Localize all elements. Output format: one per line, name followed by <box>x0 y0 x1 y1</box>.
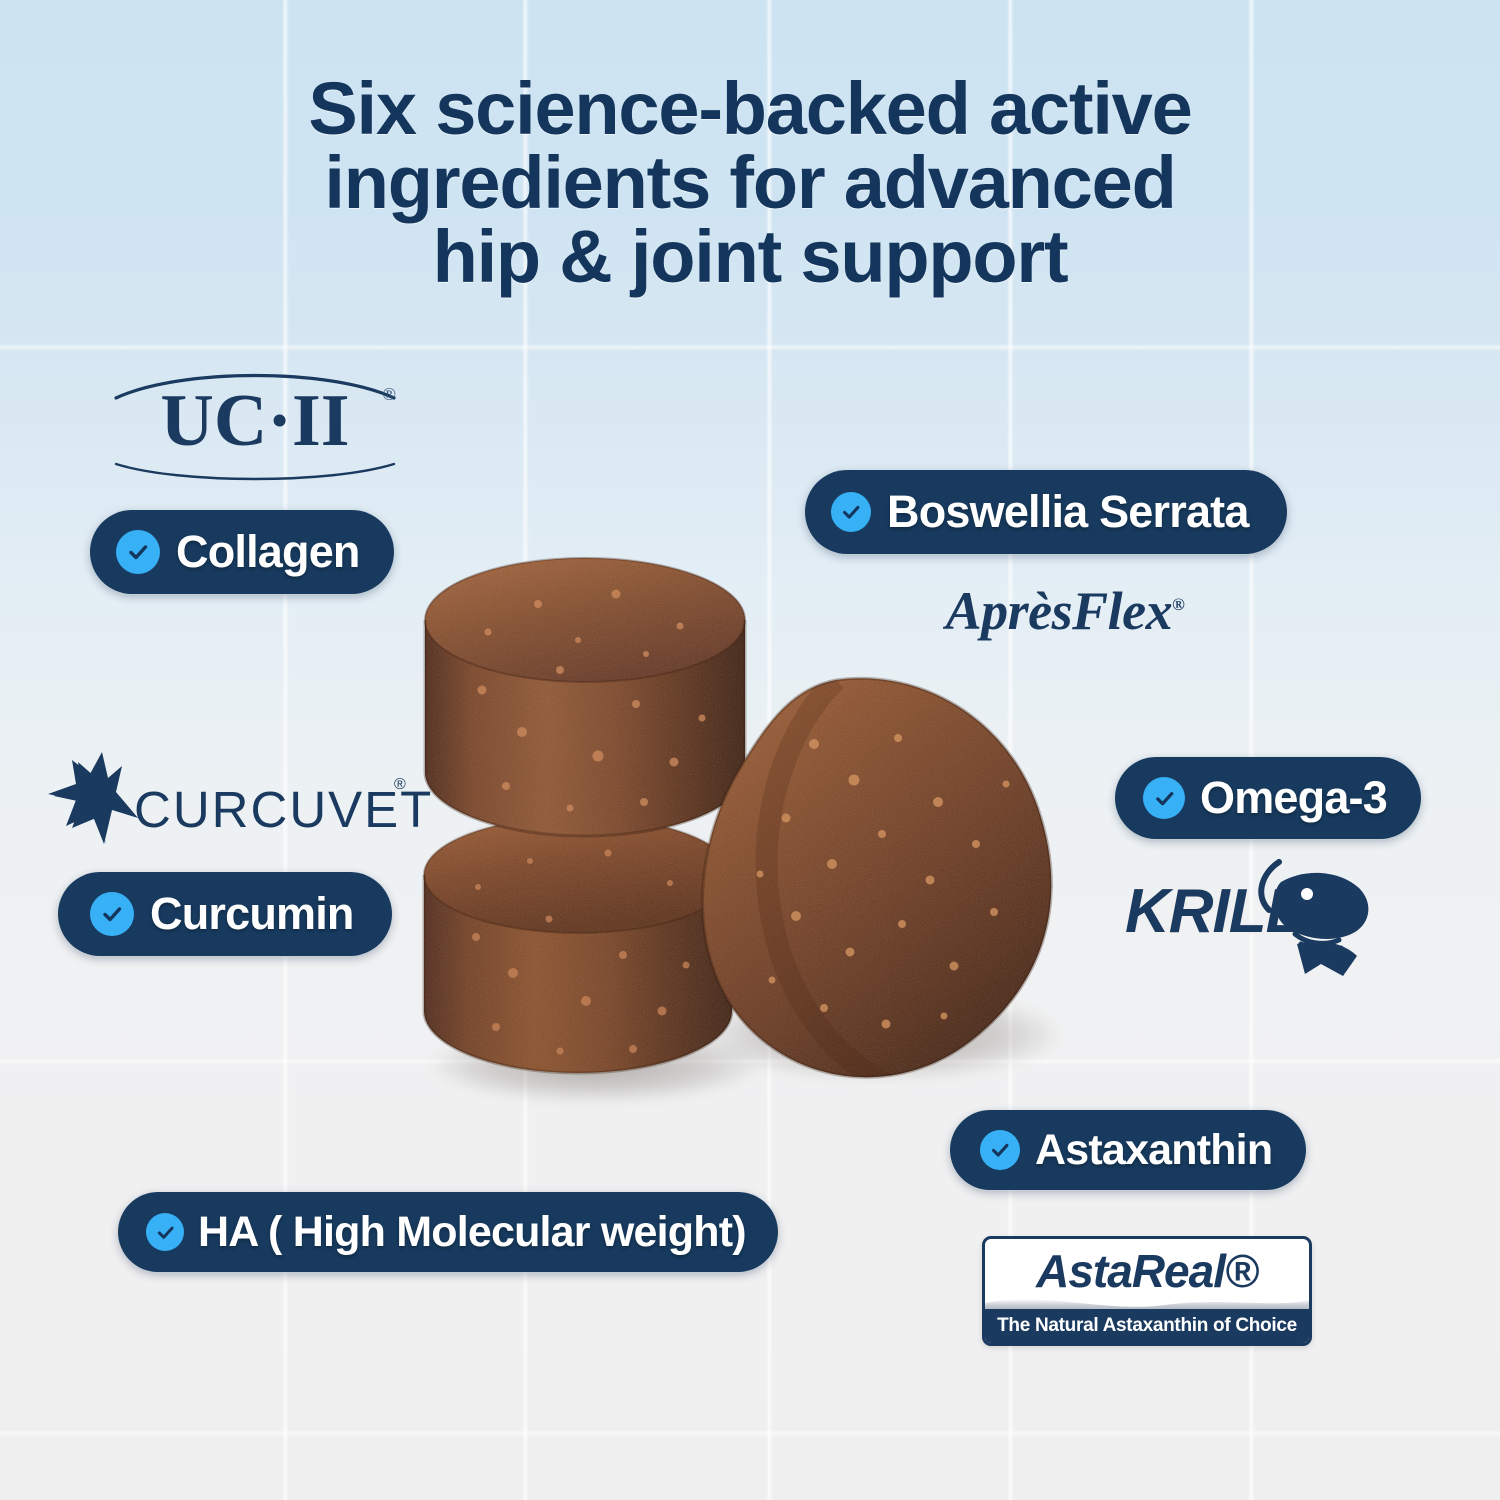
page-title: Six science-backed active ingredients fo… <box>0 72 1500 294</box>
ingredient-pill-ha[interactable]: HA ( High Molecular weight) <box>118 1192 778 1272</box>
headline-line-3: hip & joint support <box>150 220 1350 294</box>
brand-logo-curcuvet: CURCUVET ® <box>42 748 422 858</box>
ingredient-label: Astaxanthin <box>1035 1126 1272 1175</box>
astareal-tagline-bar: The Natural Astaxanthin of Choice <box>985 1309 1309 1343</box>
brand-logo-ucii: UC·II ® <box>110 372 400 482</box>
ingredient-label: Curcumin <box>150 888 354 940</box>
grid-line-horizontal <box>0 344 1500 351</box>
ingredient-pill-omega-3[interactable]: Omega-3 <box>1115 757 1421 839</box>
soft-chew-right <box>686 668 1086 1088</box>
ingredient-label: Boswellia Serrata <box>887 486 1249 538</box>
check-icon <box>980 1130 1020 1170</box>
check-icon <box>116 530 160 574</box>
check-icon <box>90 892 134 936</box>
ingredient-label: Collagen <box>176 526 360 578</box>
ingredient-pill-curcumin[interactable]: Curcumin <box>58 872 392 956</box>
brand-logo-krill: KRILL <box>1125 848 1375 978</box>
brand-logo-astareal: AstaReal® The Natural Astaxanthin of Cho… <box>982 1236 1312 1346</box>
grid-line-horizontal <box>0 1430 1500 1437</box>
brand-logo-apresflex: AprèsFlex® <box>915 580 1215 642</box>
check-icon <box>1143 777 1185 819</box>
ingredient-label: HA ( High Molecular weight) <box>198 1208 746 1257</box>
chew-shape <box>686 668 1086 1088</box>
ingredient-pill-boswellia-serrata[interactable]: Boswellia Serrata <box>805 470 1287 554</box>
ucii-wordmark: UC·II <box>110 384 400 458</box>
ingredient-label: Omega-3 <box>1200 772 1387 824</box>
registered-mark: ® <box>382 384 396 405</box>
krill-shrimp-icon <box>1235 848 1375 978</box>
registered-mark: ® <box>394 776 406 794</box>
headline-line-1: Six science-backed active <box>150 72 1350 146</box>
headline-line-2: ingredients for advanced <box>150 146 1350 220</box>
ingredient-pill-astaxanthin[interactable]: Astaxanthin <box>950 1110 1306 1190</box>
registered-mark: ® <box>1172 595 1184 614</box>
ingredient-pill-collagen[interactable]: Collagen <box>90 510 394 594</box>
check-icon <box>146 1213 184 1251</box>
check-icon <box>831 492 871 532</box>
curcuvet-wordmark: CURCUVET <box>134 780 433 839</box>
astareal-tagline: The Natural Astaxanthin of Choice <box>997 1315 1297 1337</box>
apresflex-wordmark: AprèsFlex <box>946 581 1173 641</box>
